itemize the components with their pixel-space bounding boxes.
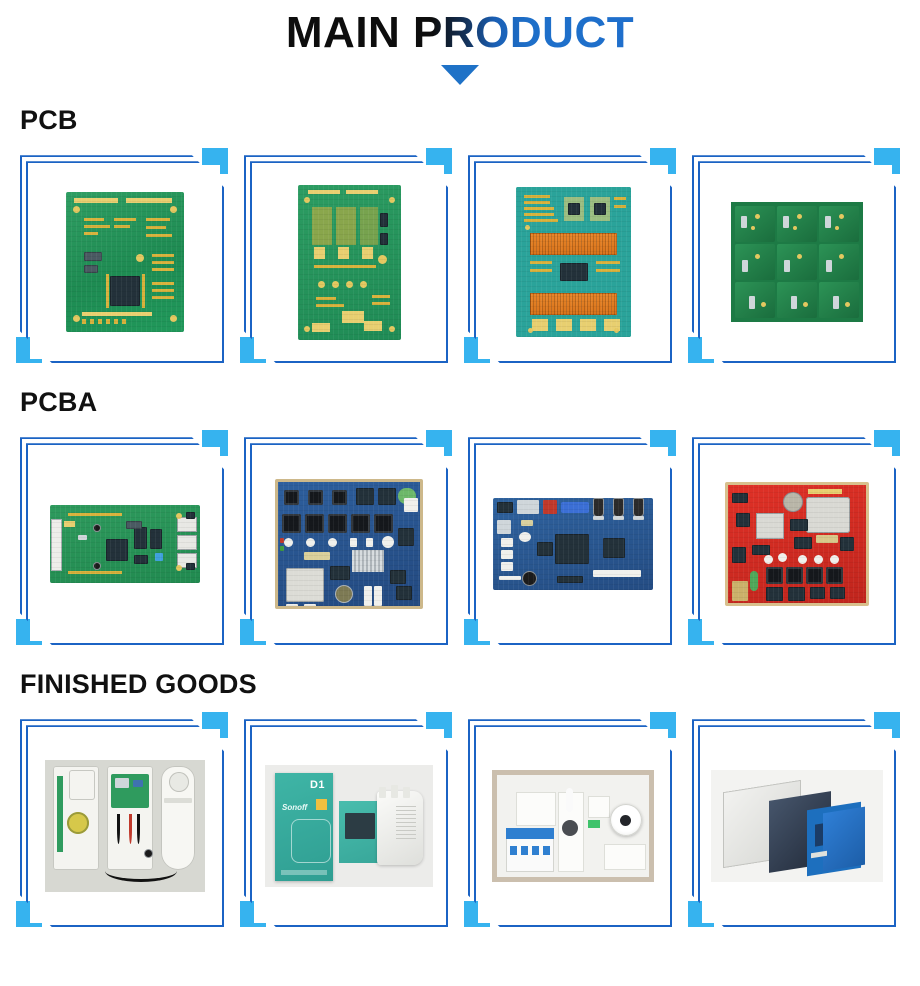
product-card-panelized-pcb-array[interactable] <box>688 148 900 363</box>
product-image-blue-power-pcba <box>275 479 423 609</box>
triangle-down-icon <box>441 65 479 85</box>
product-photo-plate <box>702 447 892 641</box>
product-photo-plate <box>478 447 668 641</box>
section-label-pcba: PCBA <box>0 389 920 416</box>
product-image-display-panel-exploded <box>711 770 883 882</box>
product-card-green-horizontal-pcba[interactable] <box>16 430 228 645</box>
product-image-green-square-pcb <box>66 192 184 332</box>
section-pcb: PCB <box>0 107 920 363</box>
product-photo-plate <box>254 447 444 641</box>
product-box-title: D1 <box>310 779 325 791</box>
product-photo-plate <box>30 447 220 641</box>
product-photo-plate <box>478 729 668 923</box>
product-card-panoramic-camera-kit[interactable] <box>464 712 676 927</box>
product-photo-plate <box>478 165 668 359</box>
product-card-tall-green-pcb[interactable] <box>240 148 452 363</box>
product-card-telephone-assembly[interactable] <box>16 712 228 927</box>
product-box-brand: Sonoff <box>282 803 307 812</box>
product-image-red-pcba <box>725 482 869 606</box>
product-photo-plate <box>30 729 220 923</box>
product-card-blue-av-pcba[interactable] <box>464 430 676 645</box>
section-label-pcb: PCB <box>0 107 920 134</box>
product-image-rigid-flex-pcb <box>516 187 631 337</box>
product-photo-plate <box>30 165 220 359</box>
product-image-panelized-pcb-array <box>731 202 863 322</box>
product-image-blue-av-pcba <box>493 498 653 590</box>
product-card-red-pcba[interactable] <box>688 430 900 645</box>
product-image-green-horizontal-pcba <box>50 505 200 583</box>
product-image-panoramic-camera-kit <box>492 770 654 882</box>
product-photo-plate <box>702 165 892 359</box>
product-photo-plate <box>702 729 892 923</box>
page-header: MAIN PRODUCT <box>0 0 920 85</box>
product-card-blue-power-pcba[interactable] <box>240 430 452 645</box>
product-card-green-square-pcb[interactable] <box>16 148 228 363</box>
product-photo-plate <box>254 165 444 359</box>
product-card-display-panel-exploded[interactable] <box>688 712 900 927</box>
main-product-page: MAIN PRODUCT PCB <box>0 0 920 986</box>
page-title: MAIN PRODUCT <box>286 10 634 56</box>
product-image-telephone-assembly <box>45 760 205 892</box>
product-row-finished-goods: D1 Sonoff <box>0 712 920 927</box>
product-card-sonoff-d1-kit[interactable]: D1 Sonoff <box>240 712 452 927</box>
section-pcba: PCBA <box>0 389 920 645</box>
section-label-finished-goods: FINISHED GOODS <box>0 671 920 698</box>
section-finished-goods: FINISHED GOODS <box>0 671 920 927</box>
product-image-sonoff-d1-kit: D1 Sonoff <box>265 765 433 887</box>
product-row-pcb <box>0 148 920 363</box>
product-photo-plate: D1 Sonoff <box>254 729 444 923</box>
product-row-pcba <box>0 430 920 645</box>
product-card-rigid-flex-pcb[interactable] <box>464 148 676 363</box>
product-image-tall-green-pcb <box>298 185 401 340</box>
